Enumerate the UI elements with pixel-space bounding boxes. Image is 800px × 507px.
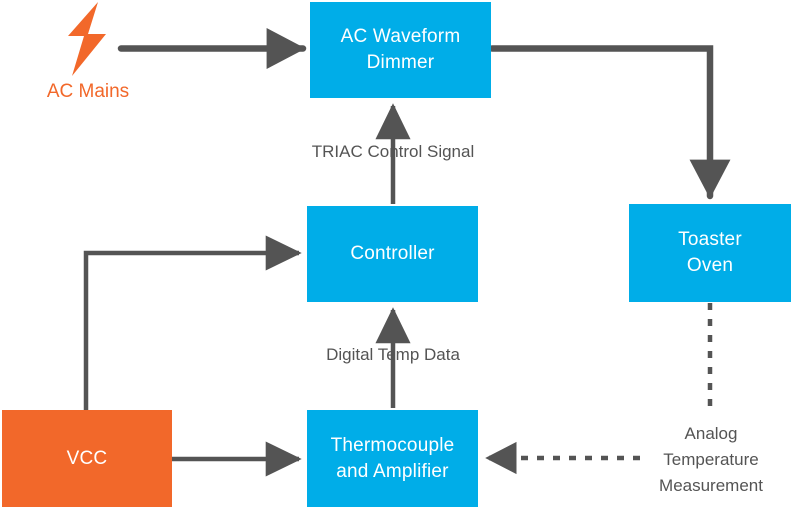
edge-label-analog-temperature-measurement: Analog Temperature Measurement [631,421,791,499]
label-layer: AC Mains TRIAC Control Signal Digital Te… [0,0,800,507]
edge-label-triac-control-signal: TRIAC Control Signal [278,140,508,163]
edge-label-digital-temp-data: Digital Temp Data [290,343,496,366]
source-label-ac-mains: AC Mains [20,80,156,104]
block-diagram-canvas: AC Waveform Dimmer Controller Toaster Ov… [0,0,800,507]
